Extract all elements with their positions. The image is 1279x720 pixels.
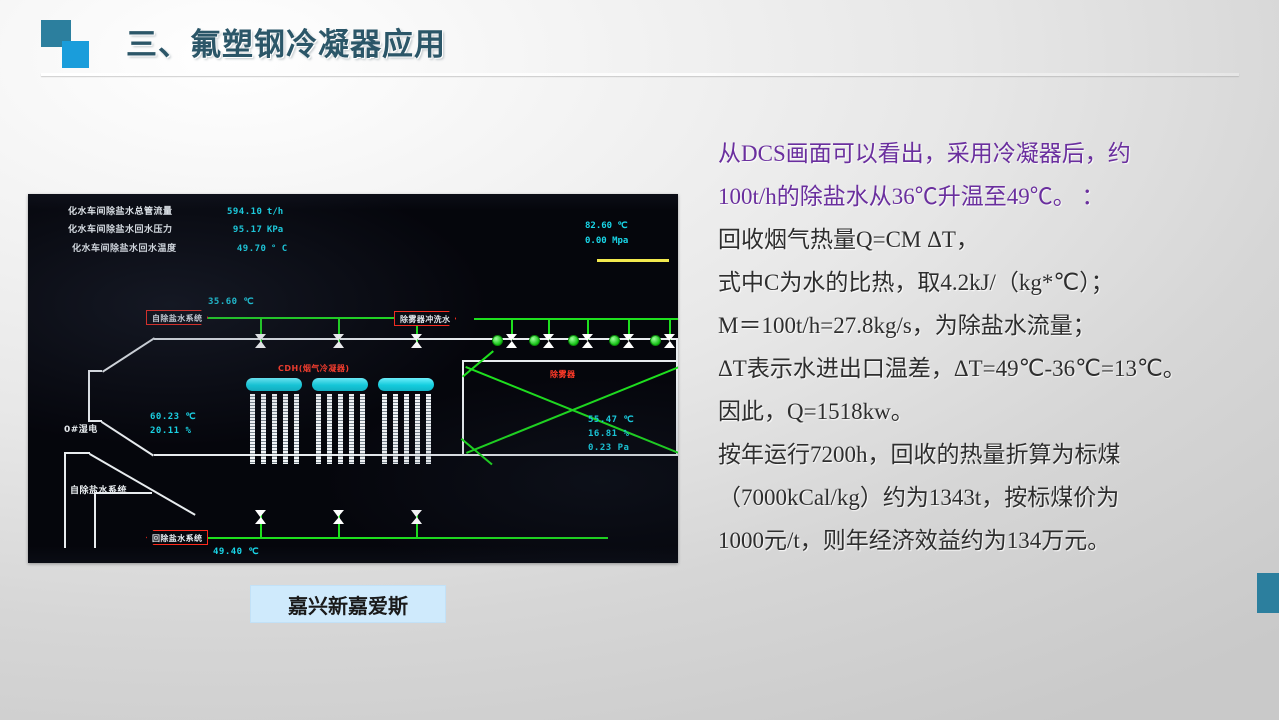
duct-outline-diag-top (102, 337, 155, 372)
demister-chamber-divider-right (676, 338, 678, 456)
readout-left-temperature: 60.23 ℃ (150, 412, 196, 422)
page-title: 三、氟塑钢冷凝器应用 (126, 19, 446, 64)
valve-inlet-3 (411, 334, 422, 348)
duct-outline-top-left (88, 370, 102, 372)
body-line-9: （7000kCal/kg）约为1343t，按标煤价为 (718, 476, 1263, 519)
body-line-5: M＝100t/h=27.8kg/s，为除盐水流量； (718, 304, 1263, 347)
dcs-header-row-1: 化水车间除盐水总管流量 594.10 t/h (68, 202, 283, 218)
valve-inlet-2 (333, 334, 344, 348)
valve-wash-2 (543, 334, 554, 348)
dcs-bottom-band (28, 546, 678, 563)
dcs-header-unit-1: t/h (267, 207, 283, 217)
valve-outlet-1 (255, 510, 266, 524)
body-line-2: 100t/h的除盐水从36℃升温至49℃。 ： (718, 175, 1263, 218)
pump-indicator-5 (650, 335, 661, 346)
readout-right-pressure: 0.23 Pa (588, 443, 629, 453)
label-wet-esp: 0#湿电 (64, 422, 98, 435)
demister-brace-c (462, 350, 494, 377)
title-divider (41, 73, 1239, 76)
body-line-1: 从DCS画面可以看出，采用冷凝器后，约 (718, 132, 1263, 175)
body-line-10: 1000元/t，则年经济效益约为134万元。 (718, 519, 1263, 562)
dcs-screenshot-image: 化水车间除盐水总管流量 594.10 t/h 化水车间除盐水回水压力 95.17… (28, 194, 678, 563)
readout-outlet-temp: 49.40 ℃ (213, 547, 259, 557)
condenser-header-cap-3 (378, 378, 434, 391)
dcs-header-label-1: 化水车间除盐水总管流量 (68, 204, 196, 220)
pump-indicator-2 (529, 335, 540, 346)
dcs-top-right-readout: 82.60 ℃ 0.00 Mpa (585, 219, 628, 249)
duct-outline-left-vertical (88, 370, 90, 422)
dcs-header-unit-2: KPa (267, 225, 283, 235)
dcs-header-row-2: 化水车间除盐水回水压力 95.17 KPa (68, 220, 283, 236)
esp-box-left (64, 452, 66, 548)
dcs-header-label-2: 化水车间除盐水回水压力 (68, 222, 196, 238)
valve-wash-4 (623, 334, 634, 348)
image-caption: 嘉兴新嘉爱斯 (250, 585, 446, 623)
valve-inlet-1 (255, 334, 266, 348)
duct-outline-diag-bottom (101, 421, 154, 456)
valve-wash-5 (664, 334, 675, 348)
tag-demister-wash-water: 除雾器冲洗水 (394, 311, 456, 326)
valve-wash-1 (506, 334, 517, 348)
body-line-3: 回收烟气热量Q=CM ΔT， (718, 218, 1263, 261)
dcs-yellow-indicator-bar (597, 259, 669, 262)
readout-right-temperature: 55.47 ℃ (588, 415, 634, 425)
dcs-header-unit-3: ° C (271, 244, 287, 254)
demister-chamber-top (462, 360, 678, 362)
body-line-4: 式中C为水的比热，取4.2kJ/（kg*℃）； (718, 261, 1263, 304)
decoration-square-light (62, 41, 89, 68)
dcs-header-row-3: 化水车间除盐水回水温度 49.70 ° C (72, 239, 287, 255)
condenser-header-cap-1 (246, 378, 302, 391)
body-line-6: ΔT表示水进出口温差，ΔT=49℃-36℃=13℃。 (718, 347, 1263, 390)
body-line-8: 按年运行7200h，回收的热量折算为标煤 (718, 433, 1263, 476)
condenser-header-cap-2 (312, 378, 368, 391)
pump-indicator-1 (492, 335, 503, 346)
wash-header-line (474, 318, 678, 320)
readout-inlet-temp: 35.60 ℃ (208, 297, 254, 307)
label-demin-system: 自除盐水系统 (70, 483, 127, 496)
dcs-top-right-pressure: 0.00 Mpa (585, 234, 628, 249)
dcs-header-value-2: 95.17 (200, 222, 262, 238)
dcs-header-value-1: 594.10 (200, 204, 262, 220)
valve-wash-3 (582, 334, 593, 348)
label-demister: 除雾器 (550, 369, 576, 380)
readout-right-percent: 16.81 % (588, 429, 629, 439)
valve-outlet-2 (333, 510, 344, 524)
tag-outlet-return-demin: 回除盐水系统 (146, 530, 208, 545)
pump-indicator-3 (568, 335, 579, 346)
esp-box-inner-left (94, 494, 96, 548)
body-line-7: 因此，Q=1518kw。 (718, 390, 1263, 433)
dcs-header-label-3: 化水车间除盐水回水温度 (72, 241, 200, 257)
dcs-top-right-temperature: 82.60 ℃ (585, 219, 628, 234)
slide-header: 三、氟塑钢冷凝器应用 (0, 0, 1279, 86)
outlet-header-line (188, 537, 608, 539)
pump-indicator-4 (609, 335, 620, 346)
readout-left-percent: 20.11 % (150, 426, 191, 436)
dcs-header-value-3: 49.70 (204, 241, 266, 257)
esp-box-top (64, 452, 90, 454)
label-condenser: CDH(烟气冷凝器) (278, 363, 350, 374)
tag-inlet-from-demin: 自除盐水系统 (146, 310, 208, 325)
body-text-block: 从DCS画面可以看出，采用冷凝器后，约 100t/h的除盐水从36℃升温至49℃… (718, 132, 1263, 562)
valve-outlet-3 (411, 510, 422, 524)
edge-accent-bar (1257, 573, 1279, 613)
